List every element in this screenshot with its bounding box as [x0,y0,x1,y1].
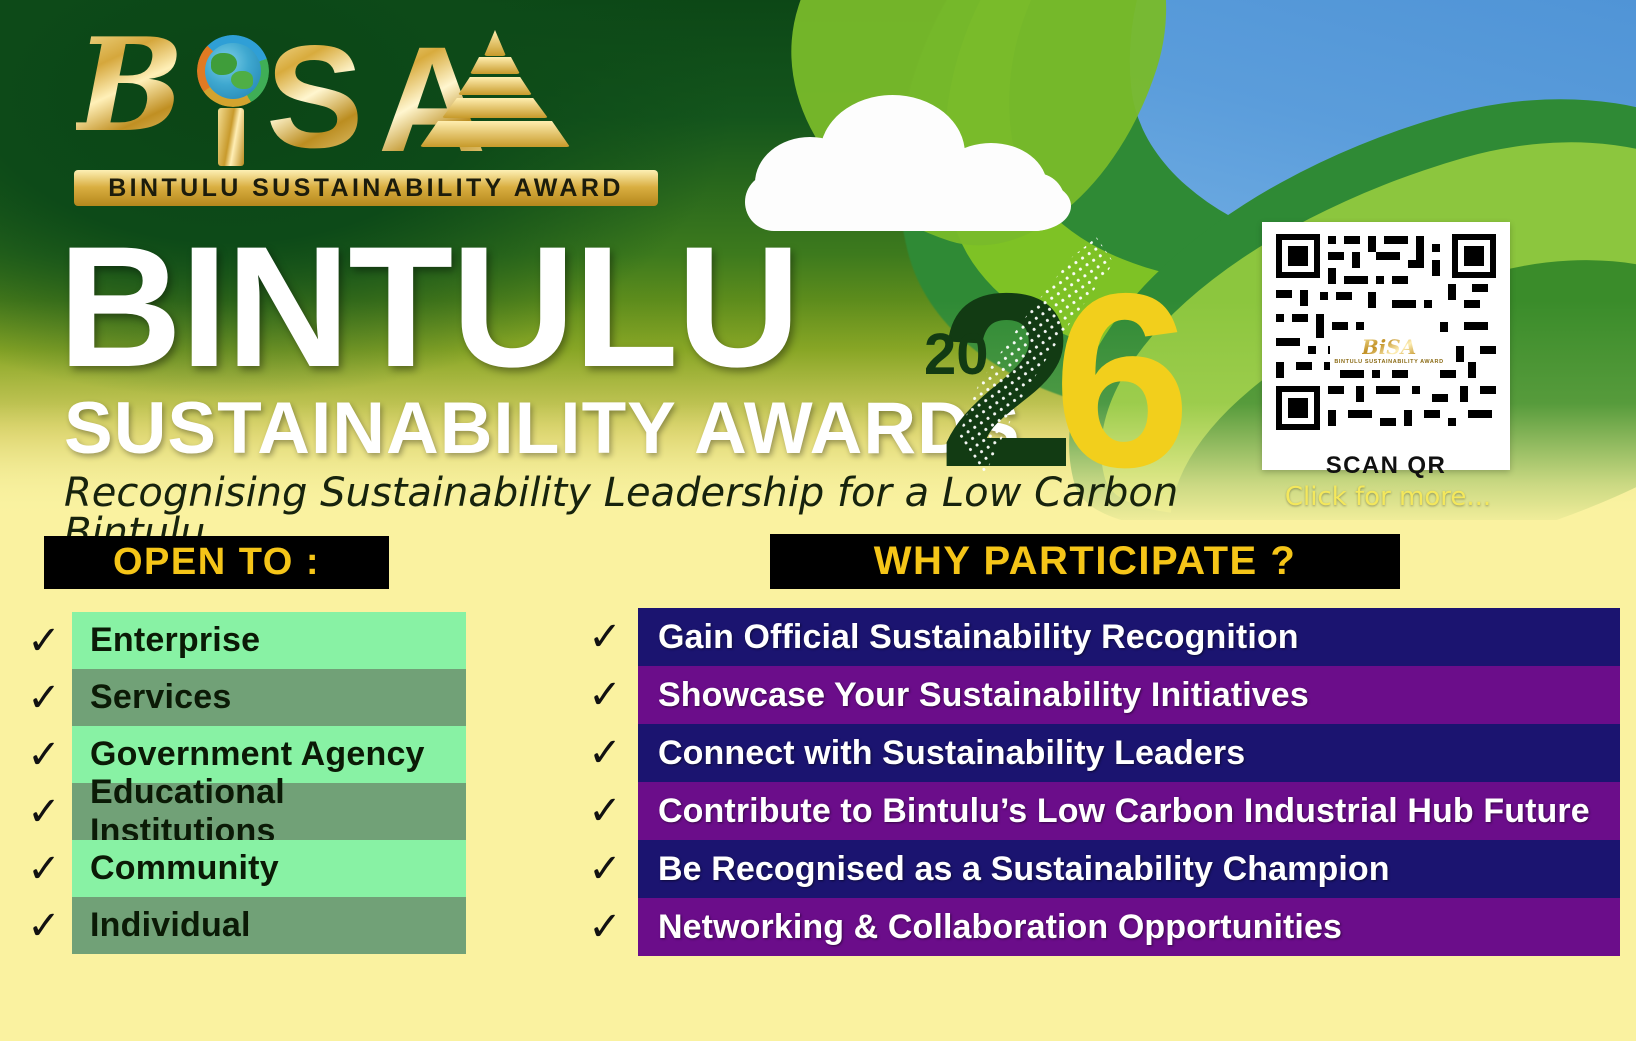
list-item: ✓ Enterprise [16,612,466,669]
bisa-logo: B S A BINTULU SUSTAINABILITY AWARD [68,18,668,213]
check-icon: ✓ [16,840,72,897]
logo-letter-s: S [266,24,363,170]
list-item: ✓ Educational Institutions [16,783,466,840]
list-item: ✓ Services [16,669,466,726]
section-header-open-to: OPEN TO : [44,536,389,589]
logo-glyphs: B S A [68,18,668,166]
poster-root: B S A BINTULU SUSTAINABILITY AWARD BINTU… [0,0,1636,1041]
list-item: ✓ Community [16,840,466,897]
check-icon: ✓ [16,897,72,954]
list-item: ✓ Showcase Your Sustainability Initiativ… [572,666,1620,724]
check-icon: ✓ [572,840,638,898]
open-to-label: Individual [90,906,251,945]
why-participate-bar: Showcase Your Sustainability Initiatives [638,666,1620,724]
why-participate-bar: Networking & Collaboration Opportunities [638,898,1620,956]
check-icon: ✓ [16,612,72,669]
why-participate-list: ✓ Gain Official Sustainability Recogniti… [572,608,1620,956]
year-prefix-20: 20 [924,326,989,384]
open-to-label: Government Agency [90,735,425,774]
open-to-label: Educational Institutions [90,773,466,851]
list-item: ✓ Connect with Sustainability Leaders [572,724,1620,782]
check-icon: ✓ [572,608,638,666]
why-participate-bar: Contribute to Bintulu’s Low Carbon Indus… [638,782,1620,840]
pagoda-icon [420,30,570,150]
why-participate-label: Contribute to Bintulu’s Low Carbon Indus… [658,792,1590,831]
open-to-bar: Community [72,840,466,897]
globe-icon [205,43,261,99]
logo-wordmark-text: BINTULU SUSTAINABILITY AWARD [108,174,624,203]
qr-code-icon[interactable] [1272,230,1500,430]
list-item: ✓ Contribute to Bintulu’s Low Carbon Ind… [572,782,1620,840]
why-participate-label: Networking & Collaboration Opportunities [658,908,1342,947]
check-icon: ✓ [572,898,638,956]
qr-embedded-logo: BiSA BINTULU SUSTAINABILITY AWARD [1330,332,1448,370]
qr-embedded-logo-mark: BiSA [1362,337,1416,357]
why-participate-bar: Connect with Sustainability Leaders [638,724,1620,782]
check-icon: ✓ [16,783,72,840]
section-header-why-participate: WHY PARTICIPATE ? [770,534,1400,589]
logo-wordmark-bar: BINTULU SUSTAINABILITY AWARD [74,170,658,206]
list-item: ✓ Networking & Collaboration Opportuniti… [572,898,1620,956]
why-participate-label: Gain Official Sustainability Recognition [658,618,1299,657]
list-item: ✓ Gain Official Sustainability Recogniti… [572,608,1620,666]
check-icon: ✓ [572,782,638,840]
open-to-label: Services [90,678,232,717]
section-header-why-participate-label: WHY PARTICIPATE ? [874,539,1297,584]
why-participate-label: Connect with Sustainability Leaders [658,734,1245,773]
logo-letter-b: B [76,22,184,150]
logo-letter-i [218,108,244,166]
scan-qr-label: SCAN QR [1262,452,1510,480]
check-icon: ✓ [572,724,638,782]
list-item: ✓ Be Recognised as a Sustainability Cham… [572,840,1620,898]
check-icon: ✓ [572,666,638,724]
year-digit-6: 6 [1053,256,1191,504]
qr-embedded-logo-wordmark: BINTULU SUSTAINABILITY AWARD [1334,359,1443,365]
section-header-open-to-label: OPEN TO : [113,541,320,584]
why-participate-bar: Be Recognised as a Sustainability Champi… [638,840,1620,898]
why-participate-label: Be Recognised as a Sustainability Champi… [658,850,1390,889]
open-to-label: Enterprise [90,621,260,660]
check-icon: ✓ [16,669,72,726]
open-to-bar: Services [72,669,466,726]
check-icon: ✓ [16,726,72,783]
open-to-bar: Educational Institutions [72,783,466,840]
cloud-icon [745,95,1075,225]
why-participate-bar: Gain Official Sustainability Recognition [638,608,1620,666]
open-to-label: Community [90,849,279,888]
year-mark-2026: 2 6 20 [908,248,1218,513]
list-item: ✓ Individual [16,897,466,954]
open-to-bar: Individual [72,897,466,954]
click-for-more-link[interactable]: Click for more... [1252,482,1524,512]
open-to-bar: Enterprise [72,612,466,669]
why-participate-label: Showcase Your Sustainability Initiatives [658,676,1309,715]
open-to-list: ✓ Enterprise ✓ Services ✓ Government Age… [16,612,466,954]
